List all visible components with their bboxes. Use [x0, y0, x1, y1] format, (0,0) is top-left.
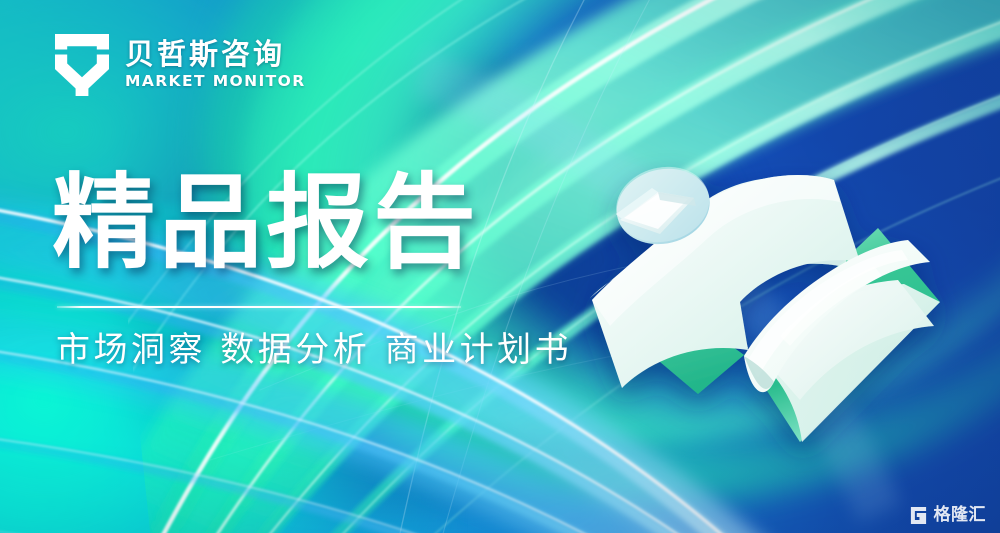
watermark-text: 格隆汇 — [934, 507, 987, 524]
report-banner: 贝哲斯咨询 MARKET MONITOR 精品报告 市场洞察 数据分析 商业计划… — [0, 0, 1000, 533]
title-divider — [57, 306, 461, 308]
open-book-illustration — [548, 150, 948, 450]
page-title: 精品报告 — [52, 172, 480, 275]
market-monitor-m-mark-icon — [55, 34, 109, 96]
page-subtitle: 市场洞察 数据分析 商业计划书 — [56, 330, 572, 371]
brand-logo[interactable]: 贝哲斯咨询 MARKET MONITOR — [55, 34, 306, 96]
watermark: 格隆汇 — [909, 506, 987, 525]
open-book-graphic — [548, 150, 948, 450]
gelonghui-g-logo-icon — [909, 506, 928, 525]
brand-logo-text: 贝哲斯咨询 MARKET MONITOR — [125, 40, 306, 90]
brand-name-cn: 贝哲斯咨询 — [125, 40, 306, 69]
brand-name-en: MARKET MONITOR — [125, 74, 306, 90]
